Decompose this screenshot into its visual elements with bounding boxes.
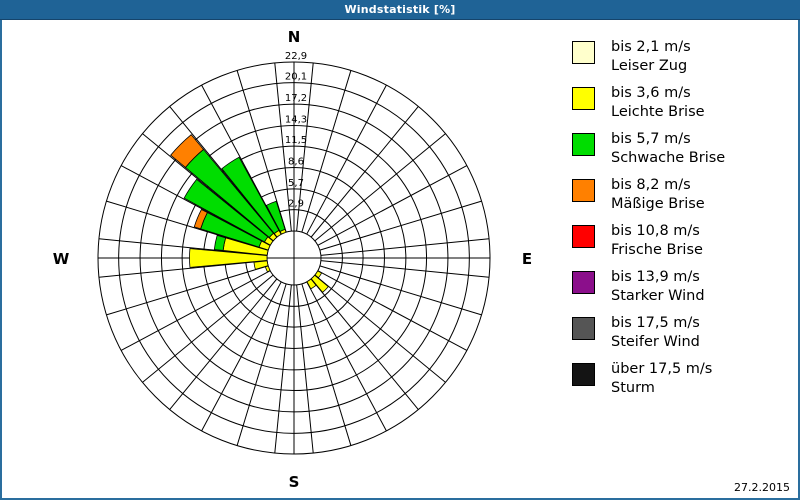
compass-label-south: S [289,473,300,491]
legend-swatch-steifer-wind [572,317,595,340]
legend-name: Leichte Brise [611,103,705,122]
legend-speed: über 17,5 m/s [611,360,712,379]
legend-item[interactable]: bis 17,5 m/s Steifer Wind [572,314,798,360]
compass-label-east: E [522,250,532,268]
window-title: Windstatistik [%] [0,0,800,19]
legend-item[interactable]: bis 8,2 m/s Mäßige Brise [572,176,798,222]
windrose-window: Windstatistik [%] 2,95,78,611,514,317,22… [0,0,800,500]
legend-text: bis 10,8 m/s Frische Brise [611,222,703,260]
legend-name: Leiser Zug [611,57,691,76]
ring-label: 20,1 [285,72,307,83]
legend-speed: bis 17,5 m/s [611,314,700,333]
legend-item[interactable]: über 17,5 m/s Sturm [572,360,798,406]
legend-text: bis 13,9 m/s Starker Wind [611,268,705,306]
legend-text: über 17,5 m/s Sturm [611,360,712,398]
ring-label: 2,9 [288,199,304,210]
legend-text: bis 17,5 m/s Steifer Wind [611,314,700,352]
legend-speed: bis 2,1 m/s [611,38,691,57]
legend-item[interactable]: bis 13,9 m/s Starker Wind [572,268,798,314]
legend-item[interactable]: bis 3,6 m/s Leichte Brise [572,84,798,130]
windrose-svg: 2,95,78,611,514,317,220,122,9NSEW [2,20,572,498]
legend-speed: bis 13,9 m/s [611,268,705,287]
legend-item[interactable]: bis 10,8 m/s Frische Brise [572,222,798,268]
legend-swatch-leiser-zug [572,41,595,64]
legend-text: bis 2,1 m/s Leiser Zug [611,38,691,76]
grid-spoke [106,266,268,315]
legend-name: Starker Wind [611,287,705,306]
legend-swatch-sturm [572,363,595,386]
window-title-bar: Windstatistik [%] [0,0,800,20]
grid-spoke [302,70,351,232]
grid-spoke [302,284,351,446]
legend-speed: bis 8,2 m/s [611,176,705,195]
ring-label: 17,2 [285,93,307,104]
compass-label-west: W [53,250,70,268]
legend-item[interactable]: bis 2,1 m/s Leiser Zug [572,38,798,84]
petal-segment [265,266,270,272]
legend-name: Sturm [611,379,712,398]
legend-swatch-frische-brise [572,225,595,248]
legend-name: Schwache Brise [611,149,725,168]
legend-item[interactable]: bis 5,7 m/s Schwache Brise [572,130,798,176]
legend-speed: bis 10,8 m/s [611,222,703,241]
footer-date: 27.2.2015 [734,481,790,494]
legend-text: bis 3,6 m/s Leichte Brise [611,84,705,122]
ring-label: 11,5 [285,135,307,146]
compass-label-north: N [288,28,301,46]
ring-label: 14,3 [285,114,307,125]
grid-spoke [320,201,482,250]
legend-name: Frische Brise [611,241,703,260]
legend-text: bis 8,2 m/s Mäßige Brise [611,176,705,214]
legend-swatch-schwache-brise [572,133,595,156]
ring-label: 22,9 [285,51,307,62]
grid-spoke [237,284,286,446]
legend: bis 2,1 m/s Leiser Zug bis 3,6 m/s Leich… [572,38,798,418]
ring-label: 8,6 [288,157,304,168]
legend-swatch-leichte-brise [572,87,595,110]
windrose-plot: 2,95,78,611,514,317,220,122,9NSEW [2,20,572,498]
grid-spoke [320,266,482,315]
content-frame: 2,95,78,611,514,317,220,122,9NSEW bis 2,… [0,20,800,500]
ring-label: 5,7 [288,178,304,189]
legend-speed: bis 3,6 m/s [611,84,705,103]
legend-swatch-starker-wind [572,271,595,294]
legend-swatch-maessige-brise [572,179,595,202]
legend-name: Steifer Wind [611,333,700,352]
legend-text: bis 5,7 m/s Schwache Brise [611,130,725,168]
legend-speed: bis 5,7 m/s [611,130,725,149]
legend-name: Mäßige Brise [611,195,705,214]
